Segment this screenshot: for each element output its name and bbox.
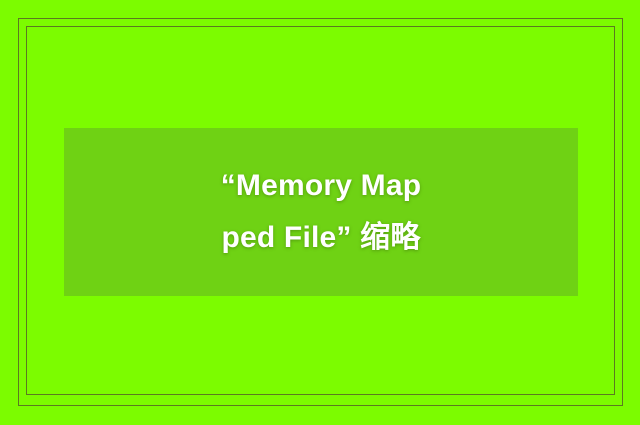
slide-title: “Memory Map ped File” 缩略 (64, 160, 578, 264)
slide-title-line-1: “Memory Map (64, 160, 578, 212)
slide-canvas: “Memory Map ped File” 缩略 (0, 0, 640, 425)
slide-title-line-2: ped File” 缩略 (64, 212, 578, 264)
content-panel: “Memory Map ped File” 缩略 (64, 128, 578, 296)
